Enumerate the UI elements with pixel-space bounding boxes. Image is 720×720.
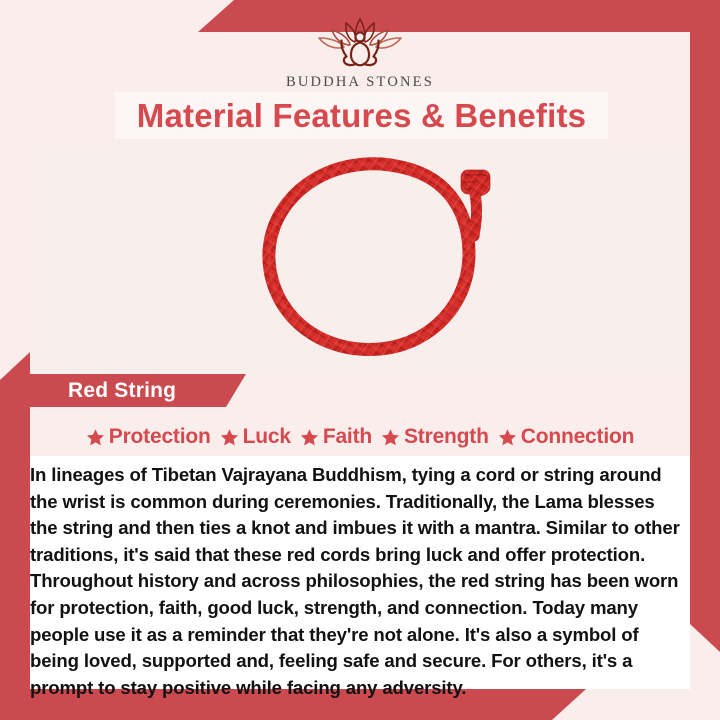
frame-band-right (690, 0, 720, 652)
brand-logo: BUDDHA STONES (0, 14, 720, 91)
product-image-stage (30, 142, 690, 374)
benefit-item-strength: Strength (381, 425, 489, 449)
description-panel: In lineages of Tibetan Vajrayana Buddhis… (30, 456, 690, 689)
star-icon (498, 428, 517, 447)
star-icon (220, 428, 239, 447)
benefit-item-faith: Faith (300, 425, 372, 449)
benefit-item-protection: Protection (86, 425, 211, 449)
page-title: Material Features & Benefits (137, 97, 586, 135)
benefits-list: Protection Luck Faith Strength Connectio (30, 420, 690, 454)
benefit-label: Luck (243, 425, 291, 449)
star-icon (300, 428, 319, 447)
benefit-label: Faith (323, 425, 372, 449)
star-icon (381, 428, 400, 447)
benefit-label: Strength (404, 425, 489, 449)
star-icon (86, 428, 105, 447)
frame-band-left (0, 352, 30, 720)
brand-wordmark: BUDDHA STONES (0, 74, 720, 91)
description-text: In lineages of Tibetan Vajrayana Buddhis… (30, 462, 680, 701)
product-label: Red String (68, 379, 176, 403)
benefit-item-connection: Connection (498, 425, 635, 449)
product-label-banner: Red String (30, 374, 246, 407)
material-features-poster: BUDDHA STONES Material Features & Benefi… (0, 0, 720, 720)
red-braided-string-bracelet (228, 144, 528, 372)
benefit-item-luck: Luck (220, 425, 291, 449)
benefit-label: Protection (109, 425, 211, 449)
title-banner: Material Features & Benefits (115, 92, 608, 139)
lotus-meditation-icon (308, 14, 412, 72)
benefit-label: Connection (521, 425, 635, 449)
